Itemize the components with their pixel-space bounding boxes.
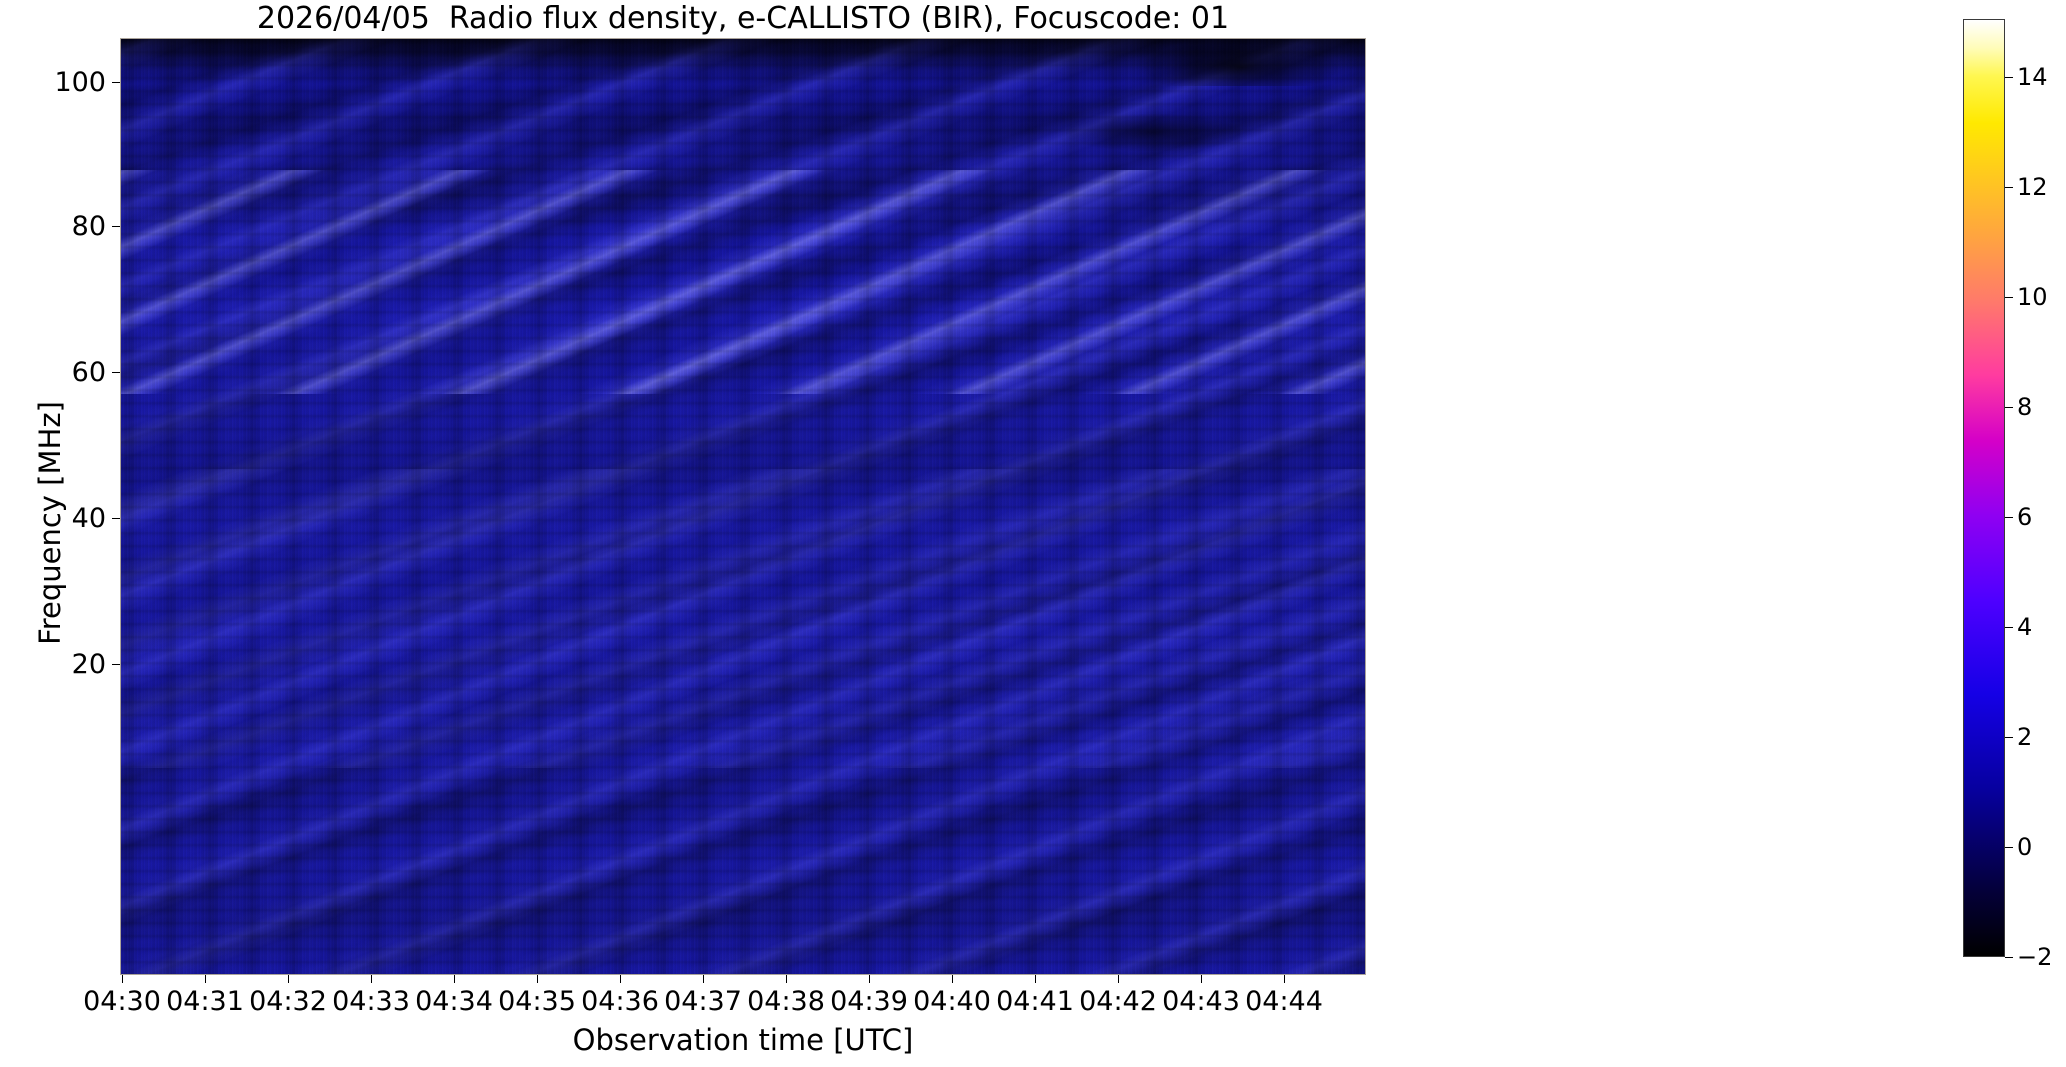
colorbar-tick-label-6: 6 bbox=[2017, 505, 2061, 529]
y-tick-label-80: 80 bbox=[32, 213, 106, 240]
colorbar-tick-mark--2 bbox=[2005, 957, 2013, 958]
x-tick-mark-4 bbox=[454, 975, 455, 983]
x-tick-mark-3 bbox=[371, 975, 372, 983]
spectrogram-axes[interactable] bbox=[120, 38, 1366, 975]
x-axis-title: Observation time [UTC] bbox=[120, 1023, 1366, 1057]
y-tick-mark-60 bbox=[112, 372, 120, 373]
x-tick-mark-14 bbox=[1284, 975, 1285, 983]
y-tick-mark-80 bbox=[112, 226, 120, 227]
y-tick-mark-40 bbox=[112, 518, 120, 519]
colorbar-tick-mark-6 bbox=[2005, 517, 2013, 518]
colorbar-tick-mark-10 bbox=[2005, 297, 2013, 298]
colorbar-tick-label-8: 8 bbox=[2017, 395, 2061, 419]
colorbar-tick-mark-2 bbox=[2005, 737, 2013, 738]
colorbar-tick-label-0: 0 bbox=[2017, 835, 2061, 859]
colorbar-tick-mark-4 bbox=[2005, 627, 2013, 628]
y-tick-mark-100 bbox=[112, 82, 120, 83]
colorbar-tick-mark-0 bbox=[2005, 847, 2013, 848]
spectrogram-dark-patch-secondary bbox=[1066, 114, 1240, 151]
x-tick-mark-13 bbox=[1201, 975, 1202, 983]
colorbar[interactable] bbox=[1963, 19, 2005, 957]
x-tick-mark-6 bbox=[620, 975, 621, 983]
x-tick-mark-5 bbox=[537, 975, 538, 983]
colorbar-tick-mark-12 bbox=[2005, 187, 2013, 188]
x-tick-mark-9 bbox=[869, 975, 870, 983]
x-tick-mark-2 bbox=[288, 975, 289, 983]
colorbar-tick-label-14: 14 bbox=[2017, 65, 2061, 89]
x-tick-mark-8 bbox=[786, 975, 787, 983]
colorbar-tick-label--2: −2 bbox=[2017, 945, 2061, 969]
colorbar-tick-mark-14 bbox=[2005, 77, 2013, 78]
spectrogram-dark-patch-top-right bbox=[1141, 39, 1340, 86]
colorbar-tick-label-12: 12 bbox=[2017, 175, 2061, 199]
x-tick-mark-1 bbox=[205, 975, 206, 983]
x-tick-mark-10 bbox=[952, 975, 953, 983]
colorbar-tick-label-10: 10 bbox=[2017, 285, 2061, 309]
y-axis-title: Frequency [MHz] bbox=[33, 263, 67, 783]
y-tick-label-100: 100 bbox=[32, 69, 106, 96]
x-tick-mark-11 bbox=[1035, 975, 1036, 983]
y-tick-mark-20 bbox=[112, 664, 120, 665]
colorbar-tick-label-4: 4 bbox=[2017, 615, 2061, 639]
colorbar-tick-label-2: 2 bbox=[2017, 725, 2061, 749]
spectrogram-channel-rfi-lines bbox=[120, 38, 1366, 975]
x-tick-mark-0 bbox=[122, 975, 123, 983]
x-tick-label-14: 04:44 bbox=[1214, 987, 1354, 1017]
x-tick-mark-7 bbox=[703, 975, 704, 983]
figure-canvas: 2026/04/05 Radio flux density, e-CALLIST… bbox=[0, 0, 2066, 1067]
x-tick-mark-12 bbox=[1118, 975, 1119, 983]
page-title: 2026/04/05 Radio flux density, e-CALLIST… bbox=[120, 2, 1366, 36]
colorbar-tick-mark-8 bbox=[2005, 407, 2013, 408]
